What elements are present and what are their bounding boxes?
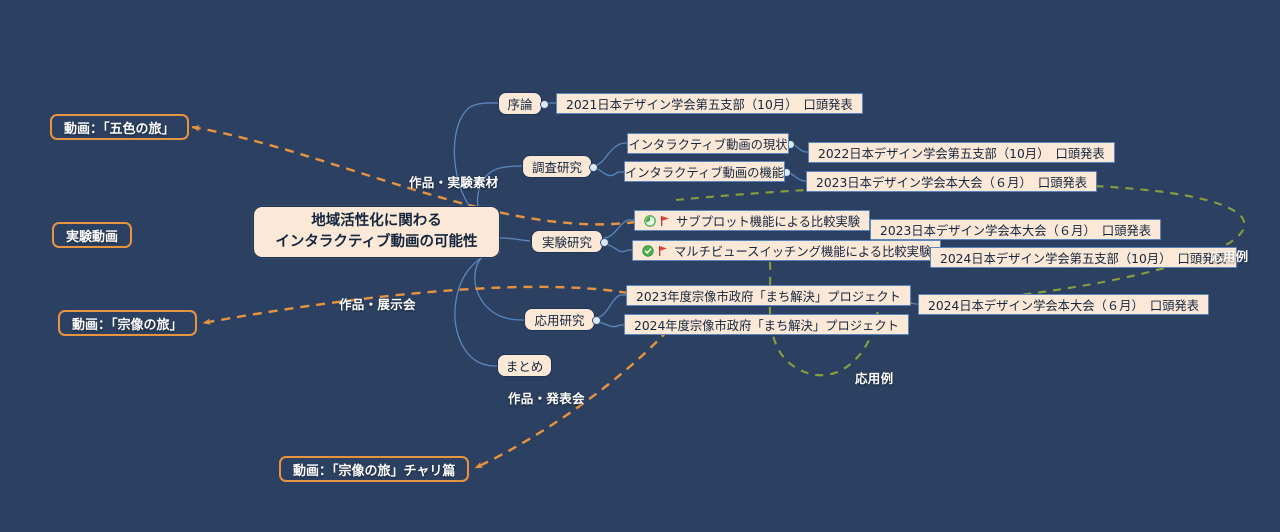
clock-icon xyxy=(644,215,656,227)
edge-label-material: 作品・実験素材 xyxy=(409,172,499,191)
status-icons xyxy=(642,245,669,257)
leaf-applied-project-2[interactable]: 2024年度宗像市政府「まち解決」プロジェクト xyxy=(624,314,909,335)
edge-label-exhibit: 作品・展示会 xyxy=(339,294,416,313)
leaf-survey-topic-1[interactable]: インタラクティブ動画の現状 xyxy=(627,133,789,154)
root-node[interactable]: 地域活性化に関わる インタラクティブ動画の可能性 xyxy=(253,206,500,258)
branch-node-survey[interactable]: 調査研究 xyxy=(522,155,592,178)
leaf-intro-presentation[interactable]: 2021日本デザイン学会第五支部（10月） 口頭発表 xyxy=(556,93,863,114)
media-node-munakata[interactable]: 動画：「宗像の旅」 xyxy=(58,310,197,336)
connector-dot xyxy=(600,238,609,247)
leaf-experiment-presentation-2[interactable]: 2024日本デザイン学会第五支部（10月） 口頭発表 xyxy=(930,247,1237,268)
leaf-experiment-presentation-1[interactable]: 2023日本デザイン学会本大会（６月） 口頭発表 xyxy=(870,219,1161,240)
leaf-survey-presentation-1[interactable]: 2022日本デザイン学会第五支部（10月） 口頭発表 xyxy=(808,142,1115,163)
flag-icon xyxy=(659,215,671,227)
connector-dot xyxy=(592,316,601,325)
leaf-applied-presentation-1[interactable]: 2024日本デザイン学会本大会（６月） 口頭発表 xyxy=(918,294,1209,315)
flag-icon xyxy=(657,245,669,257)
connector-dot xyxy=(540,100,549,109)
leaf-experiment-topic-2-label: マルチビュースイッチング機能による比較実験 xyxy=(674,242,931,260)
mindmap-canvas: 地域活性化に関わる インタラクティブ動画の可能性 序論 調査研究 実験研究 応用… xyxy=(0,0,1280,532)
leaf-experiment-topic-2[interactable]: マルチビュースイッチング機能による比較実験 xyxy=(632,240,941,261)
status-icons xyxy=(644,215,671,227)
root-line-2: インタラクティブ動画の可能性 xyxy=(275,232,477,253)
leaf-survey-presentation-2[interactable]: 2023日本デザイン学会本大会（６月） 口頭発表 xyxy=(806,171,1097,192)
branch-node-summary[interactable]: まとめ xyxy=(497,354,552,377)
connector-dot xyxy=(589,163,598,172)
edge-label-presentation: 作品・発表会 xyxy=(508,388,585,407)
branch-node-intro[interactable]: 序論 xyxy=(498,92,542,115)
media-node-experiment-video[interactable]: 実験動画 xyxy=(52,222,132,248)
root-line-1: 地域活性化に関わる xyxy=(275,211,477,232)
media-node-goshiki[interactable]: 動画：「五色の旅」 xyxy=(50,114,189,140)
check-circle-icon xyxy=(642,245,654,257)
leaf-experiment-topic-1-label: サブプロット機能による比較実験 xyxy=(676,212,860,230)
branch-node-experiment[interactable]: 実験研究 xyxy=(531,230,603,253)
leaf-survey-topic-2[interactable]: インタラクティブ動画の機能 xyxy=(624,161,785,182)
edge-label-applied-right: 応用例 xyxy=(1210,246,1248,265)
edge-label-applied-bottom: 応用例 xyxy=(855,368,893,387)
media-node-munakata-chari[interactable]: 動画：「宗像の旅」チャリ篇 xyxy=(279,456,469,482)
leaf-applied-project-1[interactable]: 2023年度宗像市政府「まち解決」プロジェクト xyxy=(626,285,911,306)
leaf-experiment-topic-1[interactable]: サブプロット機能による比較実験 xyxy=(634,210,870,231)
branch-node-applied[interactable]: 応用研究 xyxy=(524,308,595,331)
